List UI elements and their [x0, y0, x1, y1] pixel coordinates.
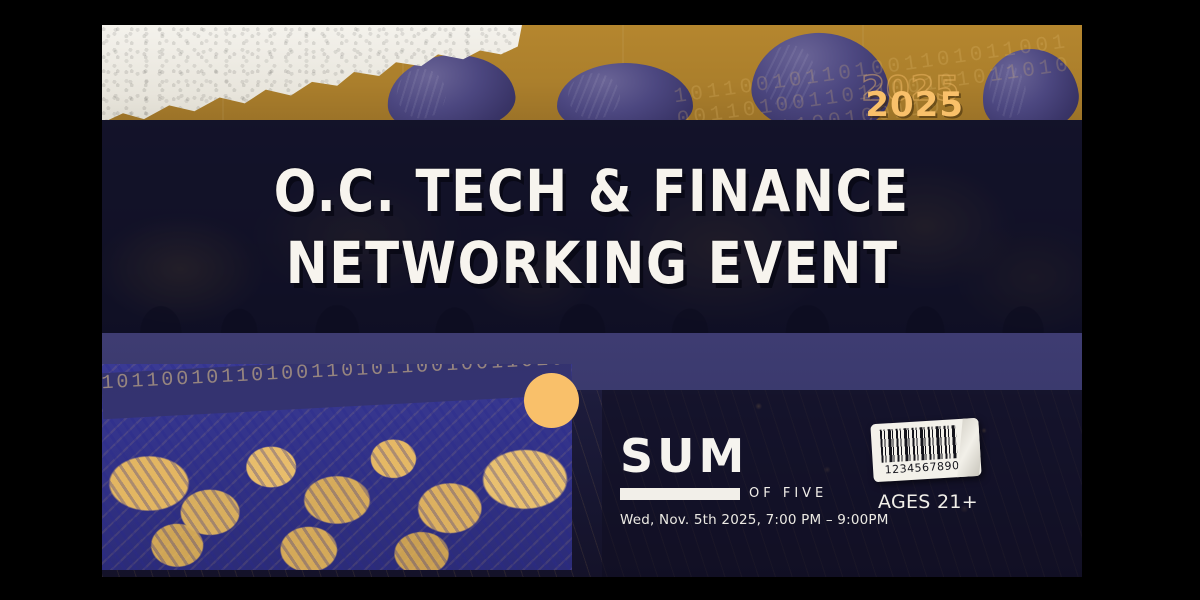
age-restriction-label: AGES 21+	[848, 491, 1008, 513]
event-datetime: Wed, Nov. 5th 2025, 7:00 PM – 9:00PM	[620, 512, 850, 528]
year-badge-label: 2025	[865, 85, 964, 120]
event-title-line-1: O.C. TECH & FINANCE	[274, 162, 910, 220]
crowd-photo-duotone: 1011001011010011010110010011010011011001…	[102, 364, 572, 570]
barcode-sticker: 1234567890	[870, 418, 981, 482]
event-title-line-2: NETWORKING EVENT	[286, 234, 899, 292]
brand-logo: SUM OF FIVE Wed, Nov. 5th 2025, 7:00 PM …	[620, 433, 850, 528]
details-section: 1011001011010011010110010011010011011001…	[102, 333, 1082, 577]
brand-subtitle-row: OF FIVE	[620, 486, 850, 501]
brand-subtitle: OF FIVE	[749, 486, 827, 501]
crowd-head-silhouette	[977, 43, 1082, 120]
title-band: O.C. TECH & FINANCE NETWORKING EVENT	[102, 120, 1082, 333]
year-badge: 2025 2025	[865, 85, 964, 120]
sticker-peel-corner	[957, 418, 982, 479]
event-title: O.C. TECH & FINANCE NETWORKING EVENT	[102, 120, 1082, 333]
crowd-head-silhouette	[557, 63, 693, 120]
brand-rule-bar	[620, 488, 740, 500]
brand-name: SUM	[620, 433, 850, 479]
orange-circle-accent	[524, 373, 579, 428]
barcode-icon	[880, 425, 958, 463]
event-flyer: 1011001011010011010110010011010011011001…	[102, 25, 1082, 577]
screenshot-canvas: 1011001011010011010110010011010011011001…	[0, 0, 1200, 600]
top-gold-band: 1011001011010011010110010011010011011001…	[102, 25, 1082, 120]
